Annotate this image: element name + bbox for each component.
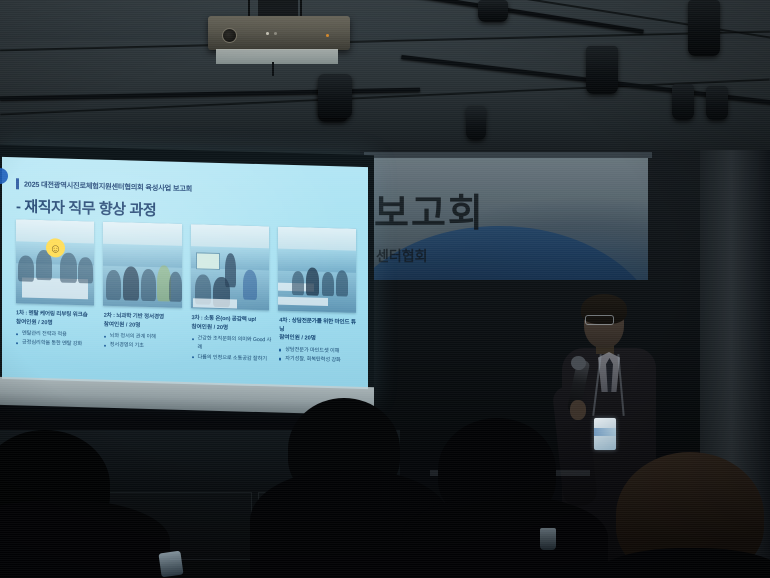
- photo-person: [141, 269, 156, 301]
- presentation-slide: 2025 대전광역시진로체험지원센터협의회 육성사업 보고회 - 재직자 직무 …: [2, 157, 368, 389]
- water-cup: [540, 528, 556, 550]
- smiley-emoji-icon: ☺: [46, 238, 65, 258]
- caption-bullet: 건강한 조직문화의 의미와 Good 사례: [192, 334, 273, 354]
- caption-bullet-list: 멘탈관리 전략과 적용 긍정심리학을 통한 멘탈 강화: [16, 330, 97, 350]
- projector-lens-icon: [222, 28, 237, 43]
- banner-title: 보고회: [374, 182, 485, 237]
- ceiling-projector: [208, 16, 350, 50]
- caption-heading: 4차 : 상담전문가를 위한 마인드 튜닝: [279, 317, 360, 337]
- banner-subtitle: 센터협회: [376, 246, 428, 266]
- stage-light-icon: [672, 84, 694, 120]
- slide-caption: 3차 : 소통 온(on) 공감력 up! 참여인원 / 20명 건강한 조직문…: [192, 314, 273, 364]
- slide-photo: [103, 222, 181, 308]
- caption-bullet: 정서경영의 기초: [104, 341, 185, 352]
- photo-person: [243, 270, 257, 300]
- caption-bullet: 다름의 인정으로 소통공감 잘하기: [192, 353, 273, 364]
- slide-caption-row: 1차 : 멘탈 케어링 리부팅 워크숍 참여인원 / 20명 멘탈관리 전략과 …: [16, 309, 360, 366]
- slide-title: - 재직자 직무 향상 과정: [16, 195, 156, 220]
- speaker-hand: [570, 400, 586, 420]
- photo-person: [78, 257, 93, 283]
- caption-bullet-list: 뇌와 정서의 관계 이해 정서경영의 기초: [104, 332, 185, 352]
- slide-photo: [191, 224, 269, 310]
- projector-led-icon: [266, 32, 269, 35]
- kicker-accent-bar: [16, 178, 19, 189]
- glasses-icon: [585, 315, 614, 325]
- caption-subheading: 참여인원 / 20명: [279, 334, 360, 345]
- photo-projection-screen: [196, 252, 220, 270]
- photo-person: [306, 267, 319, 295]
- photo-person: [60, 253, 77, 283]
- projector-light-panel: [216, 49, 338, 64]
- caption-subheading: 참여인원 / 20명: [104, 320, 185, 331]
- slide-kicker-text: 2025 대전광역시진로체험지원센터협의회 육성사업 보고회: [24, 179, 192, 194]
- photo-table: [193, 298, 237, 308]
- slide-caption: 1차 : 멘탈 케어링 리부팅 워크숍 참여인원 / 20명 멘탈관리 전략과 …: [16, 309, 97, 359]
- stage-light-icon: [706, 86, 728, 120]
- ceiling: [0, 0, 770, 168]
- caption-bullet-list: 건강한 조직문화의 의미와 Good 사례 다름의 인정으로 소통공감 잘하기: [192, 334, 273, 364]
- projection-screen: 2025 대전광역시진로체험지원센터협의회 육성사업 보고회 - 재직자 직무 …: [0, 145, 374, 404]
- photo-person: [18, 255, 34, 281]
- stage-light-icon: [478, 0, 508, 22]
- audience-shoulders: [402, 496, 608, 578]
- slide-kicker: 2025 대전광역시진로체험지원센터협의회 육성사업 보고회: [16, 178, 192, 194]
- caption-bullet: 자기성찰, 회복탄력성 강화: [279, 355, 360, 366]
- name-badge: [594, 418, 616, 450]
- light-yoke: [272, 62, 274, 76]
- photo-person: [169, 272, 181, 302]
- slide-photo: [278, 227, 356, 313]
- photo-table: [278, 297, 328, 306]
- event-banner: 보고회 센터협회: [364, 158, 648, 280]
- badge-accent: [594, 428, 616, 436]
- phone-screen-glow: [158, 551, 183, 578]
- photo-person: [123, 266, 139, 300]
- caption-subheading: 참여인원 / 20명: [192, 323, 273, 334]
- caption-bullet-list: 상담전문가 마인드셋 이해 자기성찰, 회복탄력성 강화: [279, 346, 360, 366]
- stage-light-icon: [688, 0, 720, 56]
- photo-person: [292, 271, 304, 295]
- slide-photo-row: ☺: [16, 219, 356, 312]
- photo-person: [106, 270, 121, 300]
- projector-led-icon: [326, 34, 329, 37]
- stage-light-icon: [318, 74, 352, 118]
- slide-caption: 4차 : 상담전문가를 위한 마인드 튜닝 참여인원 / 20명 상담전문가 마…: [279, 317, 360, 367]
- photo-person: [322, 272, 334, 296]
- stage-light-icon: [586, 46, 618, 94]
- stage-light-icon: [466, 106, 486, 140]
- slide-caption: 2차 : 뇌과학 기반 정서경영 참여인원 / 20명 뇌와 정서의 관계 이해…: [104, 312, 185, 362]
- caption-bullet: 긍정심리학을 통한 멘탈 강화: [16, 339, 97, 350]
- conference-photo-scene: 보고회 센터협회 2025 대전광역시진로체험지원센터협의회 육성사업 보고회 …: [0, 0, 770, 578]
- slide-photo: ☺: [16, 219, 94, 305]
- projector-led-icon: [274, 32, 277, 35]
- photo-person: [336, 270, 348, 296]
